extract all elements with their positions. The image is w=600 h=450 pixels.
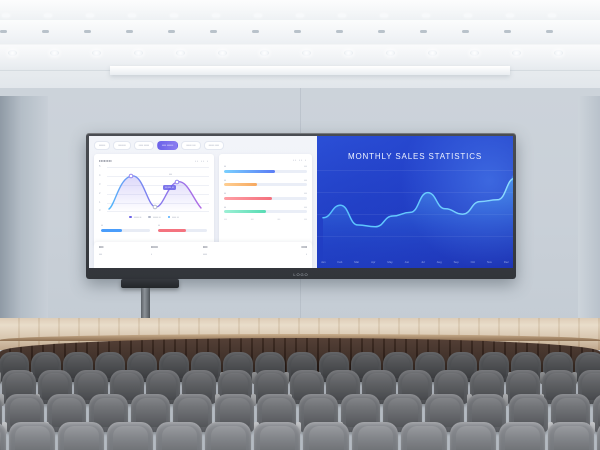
- ranking-axis-tick: •••: [251, 218, 254, 221]
- ranking-card: •• •• • •••••••••••••••••••• •••••••••••…: [219, 154, 312, 246]
- filter-chip[interactable]: ••••••: [94, 141, 110, 150]
- mini-progress-fill: [158, 229, 186, 232]
- filter-chip[interactable]: ••••• ••••: [204, 141, 224, 150]
- downlight: [344, 50, 353, 56]
- trend-line-chart: 5 4 3 2 1 0: [101, 165, 209, 213]
- ranking-card-tools[interactable]: •• •• •: [293, 158, 307, 162]
- downlight: [42, 30, 49, 33]
- downlight: [92, 50, 101, 56]
- ranking-bar-header: •••••: [224, 164, 307, 168]
- legend-label: •••• ••: [172, 215, 179, 219]
- legend-item[interactable]: ••••• ••: [148, 215, 160, 219]
- trend-curve-svg: [101, 165, 209, 215]
- auditorium-seat: [58, 422, 104, 450]
- ranking-bar-item[interactable]: •••••: [224, 164, 307, 173]
- downlight: [128, 14, 136, 17]
- mini-progress-label: ••: [101, 223, 150, 227]
- sales-axis-tick: Mar: [354, 260, 359, 264]
- ranking-bar-name: ••: [224, 191, 226, 195]
- sales-axis-tick: Jul: [421, 260, 425, 264]
- sales-axis-tick: Dec: [504, 260, 509, 264]
- downlight: [0, 30, 7, 33]
- mini-progress: ••: [158, 223, 207, 232]
- ceiling-soffit: [110, 66, 510, 75]
- sales-axis-tick: Aug: [437, 260, 442, 264]
- mini-progress-label: ••: [158, 223, 207, 227]
- legend-item[interactable]: •••• ••: [168, 215, 179, 219]
- seating-area: [0, 352, 600, 450]
- table-cell: •••: [99, 252, 151, 256]
- downlight: [422, 14, 430, 17]
- ranking-bar-header: •••••: [224, 178, 307, 182]
- sales-axis-tick: Nov: [487, 260, 492, 264]
- ranking-bar-track: [224, 197, 307, 200]
- mini-progress: ••: [101, 223, 150, 232]
- ranking-bar-track: [224, 210, 307, 213]
- sales-axis-tick: May: [387, 260, 392, 264]
- downlight: [294, 30, 301, 33]
- auditorium-seat: [352, 422, 398, 450]
- downlight: [8, 50, 17, 56]
- ranking-bar-item[interactable]: •••••: [224, 191, 307, 200]
- trend-point-label: •••: [169, 173, 172, 176]
- downlight: [84, 30, 91, 33]
- filter-chip[interactable]: ••••• •••: [181, 141, 200, 150]
- ranking-bar-track: [224, 183, 307, 186]
- downlight: [252, 30, 259, 33]
- downlight: [548, 14, 556, 17]
- sales-axis-tick: Jan: [321, 260, 326, 264]
- auditorium-seat: [254, 422, 300, 450]
- table-cell: ••••: [203, 252, 255, 256]
- downlight: [336, 30, 343, 33]
- data-table[interactable]: ••••••••••••••••••• •••••••••: [94, 242, 312, 268]
- sales-axis-tick: Jun: [405, 260, 410, 264]
- legend-color-dot: [129, 216, 132, 219]
- downlight: [470, 50, 479, 56]
- legend-label: ••••• ••: [153, 215, 161, 219]
- ranking-bar-fill: [224, 183, 257, 186]
- downlight: [464, 14, 472, 17]
- auditorium-scene: ••••••••••••••••• ••••••••• ••••••••••• …: [0, 0, 600, 450]
- trend-card: •••••••• •• •• • 5 4 3: [94, 154, 214, 246]
- downlight: [504, 30, 511, 33]
- downlight: [176, 50, 185, 56]
- downlight: [44, 14, 52, 17]
- sales-axis-tick: Oct: [471, 260, 475, 264]
- auditorium-seat: [401, 422, 447, 450]
- legend-color-dot: [148, 216, 151, 219]
- display-wall[interactable]: ••••••••••••••••• ••••••••• ••••••••••• …: [86, 133, 516, 279]
- left-side-wall: [0, 96, 24, 328]
- ranking-axis-tick: •••: [224, 218, 227, 221]
- stand-mount-bracket: [121, 279, 179, 288]
- dashboard-cards: •••••••• •• •• • 5 4 3: [94, 154, 312, 246]
- ceiling: [0, 0, 600, 96]
- table-header-cell: ••••••: [151, 245, 203, 249]
- ranking-axis: ••••••••••••: [224, 218, 307, 221]
- trend-legend: ••••• ••••••• •••••• ••: [99, 215, 209, 219]
- right-side-wall: [578, 96, 600, 328]
- ranking-bar-fill: [224, 170, 275, 173]
- sales-x-axis: JanFebMarAprMayJunJulAugSepOctNovDec: [321, 260, 509, 264]
- left-wall-return: [22, 96, 48, 328]
- mini-progress-track: [101, 229, 150, 232]
- downlight: [210, 30, 217, 33]
- mini-progress-fill: [101, 229, 122, 232]
- sales-axis-tick: Sep: [454, 260, 459, 264]
- ranking-bar-value: •••: [304, 191, 307, 195]
- ranking-bar-name: ••: [224, 164, 226, 168]
- auditorium-seat: [9, 422, 55, 450]
- ranking-bar-fill: [224, 210, 266, 213]
- dashboard-panel: ••••••••••••••••• ••••••••• ••••••••••• …: [89, 136, 317, 268]
- downlight: [546, 30, 553, 33]
- downlight: [168, 30, 175, 33]
- downlight: [386, 50, 395, 56]
- ceiling-band-far: [0, 0, 600, 20]
- auditorium-seat: [205, 422, 251, 450]
- downlight: [260, 50, 269, 56]
- auditorium-seat: [548, 422, 594, 450]
- table-cell: •: [151, 252, 203, 256]
- sales-axis-tick: Feb: [337, 260, 342, 264]
- ranking-bar-item[interactable]: •••••: [224, 205, 307, 214]
- ranking-bar-header: •••••: [224, 191, 307, 195]
- table-header-cell: ••••: [203, 245, 255, 249]
- sales-axis-tick: Apr: [371, 260, 375, 264]
- ranking-bar-track: [224, 170, 307, 173]
- downlight: [212, 14, 220, 17]
- ranking-card-header: •• •• •: [224, 158, 307, 162]
- seat-row: [0, 422, 600, 450]
- ranking-bar-value: •••: [304, 178, 307, 182]
- trend-tooltip: •• •••• ••: [163, 185, 176, 190]
- legend-color-dot: [168, 216, 171, 219]
- downlight: [554, 50, 563, 56]
- sales-wave-svg: [317, 136, 513, 268]
- trend-card-tools[interactable]: •• •• •: [195, 159, 209, 163]
- downlight: [506, 14, 514, 17]
- downlight: [134, 50, 143, 56]
- sales-panel: MONTHLY SALES STATISTICS: [317, 136, 513, 268]
- downlight: [380, 14, 388, 17]
- ranking-bar-item[interactable]: •••••: [224, 178, 307, 187]
- filter-chip[interactable]: •••••••: [113, 141, 130, 150]
- table-header-cell: ••••: [99, 245, 151, 249]
- table-row[interactable]: •••••••••: [99, 252, 307, 256]
- mini-progress-track: [158, 229, 207, 232]
- downlight: [512, 50, 521, 56]
- auditorium-seat: [303, 422, 349, 450]
- ranking-bar-value: •••: [304, 164, 307, 168]
- filter-chip[interactable]: •••• ••••••: [157, 141, 178, 150]
- downlight: [302, 50, 311, 56]
- downlight: [462, 30, 469, 33]
- ranking-axis-tick: •••: [278, 218, 281, 221]
- ranking-bar-name: ••: [224, 205, 226, 209]
- auditorium-seat: [107, 422, 153, 450]
- downlight: [126, 30, 133, 33]
- table-cell: •: [255, 252, 307, 256]
- auditorium-seat: [499, 422, 545, 450]
- display-brand-mark: LOGO: [86, 272, 516, 277]
- auditorium-seat: [156, 422, 202, 450]
- legend-label: ••••• ••: [134, 215, 142, 219]
- downlight: [170, 14, 178, 17]
- ranking-bar-name: ••: [224, 178, 226, 182]
- ranking-axis-tick: •••: [304, 218, 307, 221]
- ranking-bar-value: •••: [304, 205, 307, 209]
- auditorium-seat: [450, 422, 496, 450]
- display-screen: ••••••••••••••••• ••••••••• ••••••••••• …: [89, 136, 513, 268]
- filter-chip-row: ••••••••••••••••• ••••••••• ••••••••••• …: [94, 141, 312, 150]
- auditorium-seat: [0, 422, 6, 450]
- ranking-bar-fill: [224, 197, 272, 200]
- downlight: [296, 14, 304, 17]
- table-header-row: •••••••••••••••••••: [99, 245, 307, 249]
- downlight: [420, 30, 427, 33]
- downlight: [50, 50, 59, 56]
- downlight: [428, 50, 437, 56]
- ranking-bar-list: ••••••••••••••••••••: [224, 164, 307, 213]
- ranking-bar-header: •••••: [224, 205, 307, 209]
- trend-mini-bars: ••••: [99, 223, 209, 232]
- filter-chip[interactable]: •••• •••••: [134, 141, 154, 150]
- trend-card-header: •••••••• •• •• •: [99, 158, 209, 163]
- table-header-cell: •••••: [255, 245, 307, 249]
- downlight: [378, 30, 385, 33]
- downlight: [86, 14, 94, 17]
- trend-card-title: ••••••••: [99, 158, 112, 163]
- downlight: [254, 14, 262, 17]
- legend-item[interactable]: ••••• ••: [129, 215, 141, 219]
- downlight: [2, 14, 10, 17]
- downlight: [218, 50, 227, 56]
- downlight: [338, 14, 346, 17]
